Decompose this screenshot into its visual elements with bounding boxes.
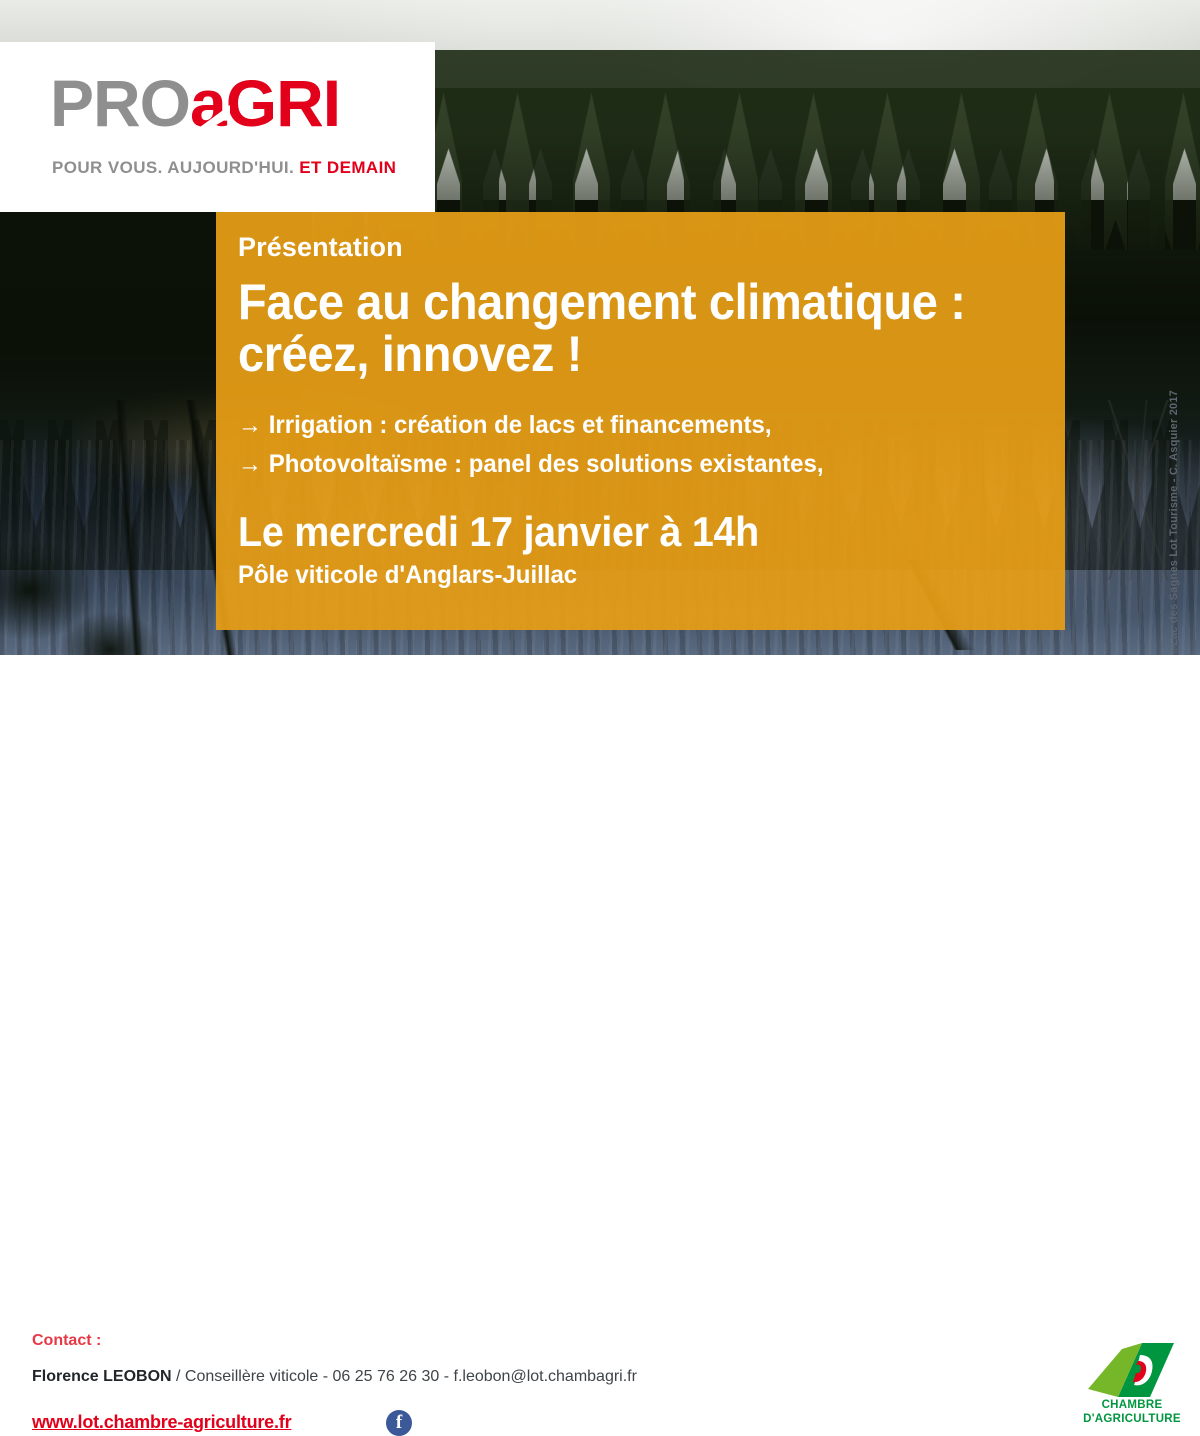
website-link[interactable]: www.lot.chambre-agriculture.fr bbox=[32, 1412, 291, 1433]
headline-line-1: Face au changement climatique : bbox=[238, 274, 966, 330]
panel-topics-list: →Irrigation : création de lacs et financ… bbox=[238, 406, 1065, 484]
list-item: →Irrigation : création de lacs et financ… bbox=[238, 406, 1032, 445]
ca-line-2: D'AGRICULTURE bbox=[1076, 1413, 1188, 1427]
arrow-right-icon: → bbox=[238, 406, 262, 445]
chambre-agriculture-wordmark: CHAMBRE D'AGRICULTURE bbox=[1076, 1399, 1188, 1427]
proagri-logo-box: PROaGRI POUR VOUS. AUJOURD'HUI. ET DEMAI… bbox=[0, 42, 435, 212]
event-date: Le mercredi 17 janvier à 14h bbox=[238, 510, 1015, 554]
footer-bar: Contact : Florence LEOBON / Conseillère … bbox=[0, 655, 1200, 780]
tagline-grey: POUR VOUS. AUJOURD'HUI. bbox=[52, 158, 294, 177]
logo-text-pro: PRO bbox=[50, 66, 190, 140]
tagline-red: ET DEMAIN bbox=[294, 158, 396, 177]
event-panel: Présentation Face au changement climatiq… bbox=[216, 212, 1065, 630]
logo-text-a: a bbox=[190, 70, 226, 136]
chambre-agriculture-logo: CHAMBRE D'AGRICULTURE bbox=[1076, 1343, 1188, 1431]
logo-text-gri: GRI bbox=[226, 66, 340, 140]
arrow-right-icon: → bbox=[238, 445, 262, 484]
facebook-icon[interactable]: f bbox=[386, 1410, 412, 1436]
chambre-agriculture-mark-icon bbox=[1088, 1343, 1174, 1397]
proagri-tagline: POUR VOUS. AUJOURD'HUI. ET DEMAIN bbox=[52, 158, 396, 178]
photo-credit: ©Lac des Sagnes Lot Tourisme - C. Asquie… bbox=[1168, 390, 1180, 654]
contact-name: Florence LEOBON bbox=[32, 1368, 172, 1385]
contact-label: Contact : bbox=[32, 1332, 101, 1350]
panel-kicker: Présentation bbox=[238, 232, 1065, 263]
list-item: →Photovoltaïsme : panel des solutions ex… bbox=[238, 445, 1032, 484]
logo-a-glyph: a bbox=[190, 66, 226, 140]
proagri-wordmark: PROaGRI bbox=[50, 70, 340, 136]
ca-line-1: CHAMBRE bbox=[1076, 1399, 1188, 1413]
headline-line-2: créez, innovez ! bbox=[238, 329, 1015, 381]
event-place: Pôle viticole d'Anglars-Juillac bbox=[238, 560, 1032, 590]
list-item-label: Photovoltaïsme : panel des solutions exi… bbox=[269, 450, 824, 478]
photo-twigs bbox=[1080, 400, 1200, 580]
panel-headline: Face au changement climatique : créez, i… bbox=[238, 277, 1015, 380]
contact-details: Florence LEOBON / Conseillère viticole -… bbox=[32, 1368, 637, 1386]
poster-hero: PROaGRI POUR VOUS. AUJOURD'HUI. ET DEMAI… bbox=[0, 0, 1200, 655]
list-item-label: Irrigation : création de lacs et finance… bbox=[269, 411, 772, 439]
contact-role-phone-email: / Conseillère viticole - 06 25 76 26 30 … bbox=[172, 1368, 637, 1385]
